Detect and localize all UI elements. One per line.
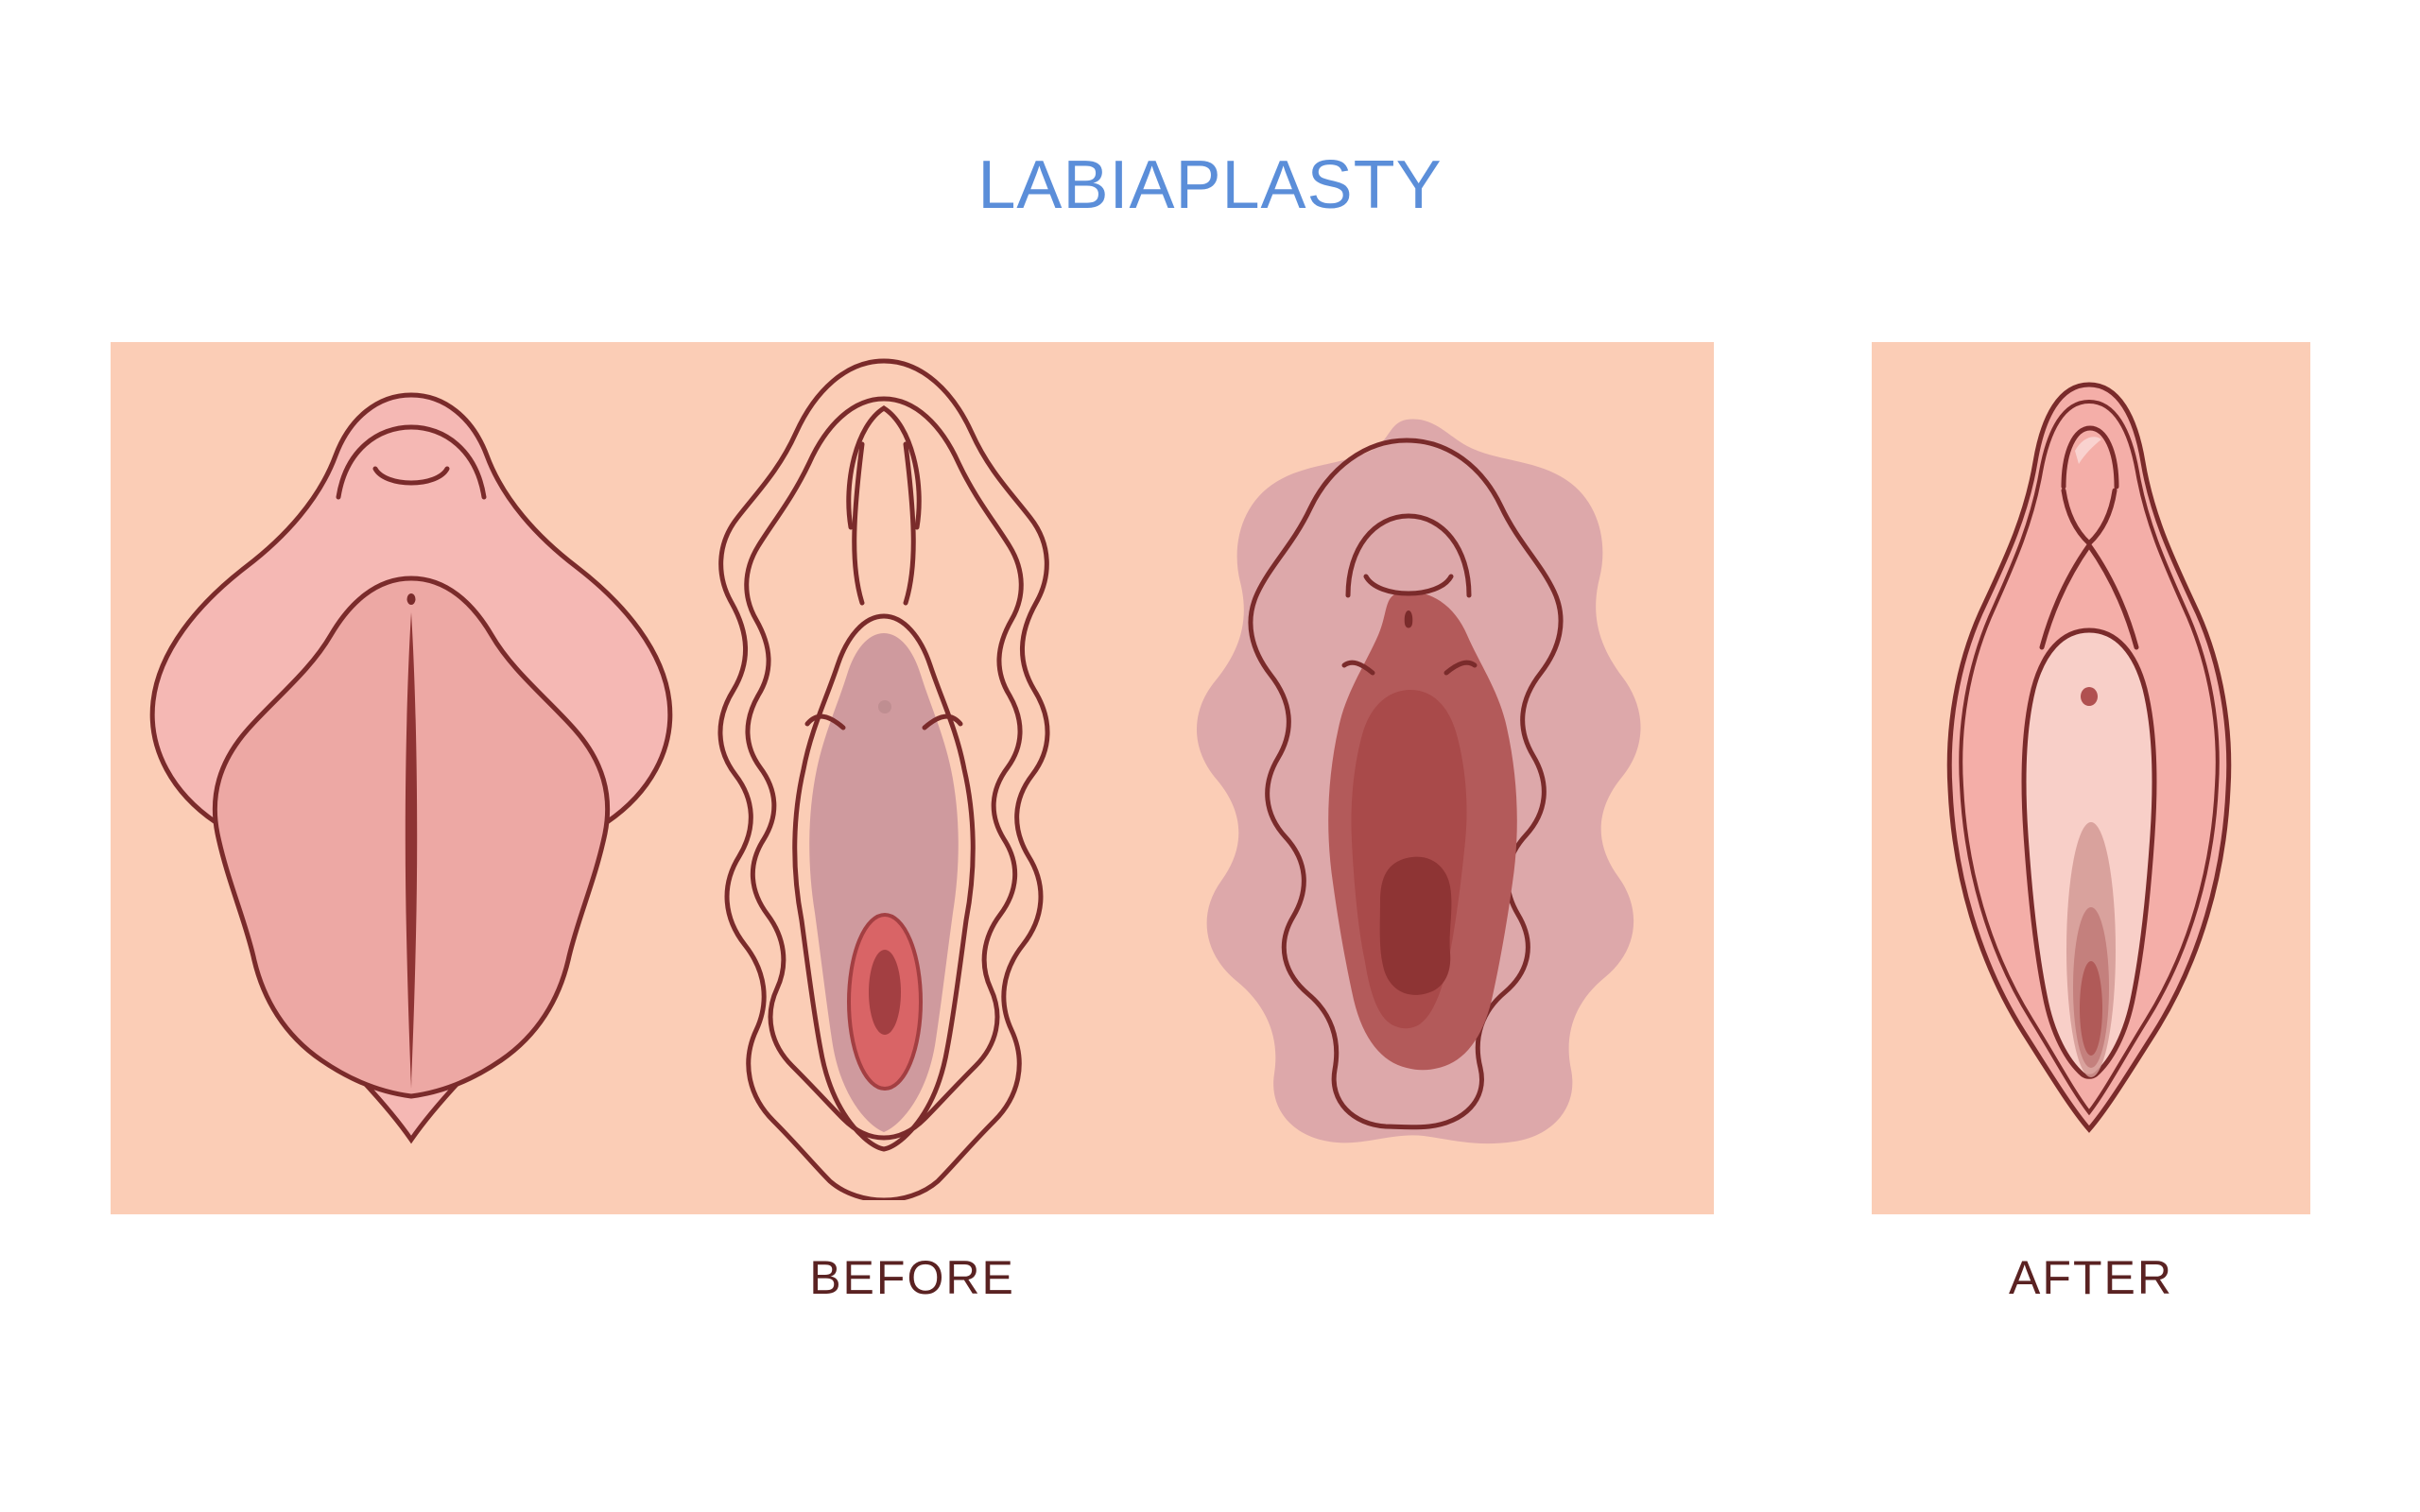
page-title: LABIAPLASTY: [0, 151, 2420, 219]
introitus-dark-region: [1380, 857, 1452, 995]
figure-enlarged-labia: [700, 350, 1068, 1200]
figure-labial-hypertrophy: [1163, 406, 1654, 1153]
urethral-opening-dot: [1405, 610, 1413, 628]
vaginal-opening-inner: [869, 950, 901, 1035]
urethral-opening-dot: [2081, 687, 2098, 706]
urethral-opening-dot: [878, 700, 891, 713]
vaginal-opening-inner: [2080, 961, 2102, 1056]
before-panel: [111, 342, 1714, 1214]
caption-before: BEFORE: [111, 1254, 1714, 1301]
after-panel: [1872, 342, 2310, 1214]
figure-after-result: [1943, 364, 2236, 1195]
caption-after: AFTER: [1872, 1254, 2310, 1301]
figure-normal-vulva: [142, 369, 681, 1200]
urethral-opening-dot: [407, 593, 416, 605]
